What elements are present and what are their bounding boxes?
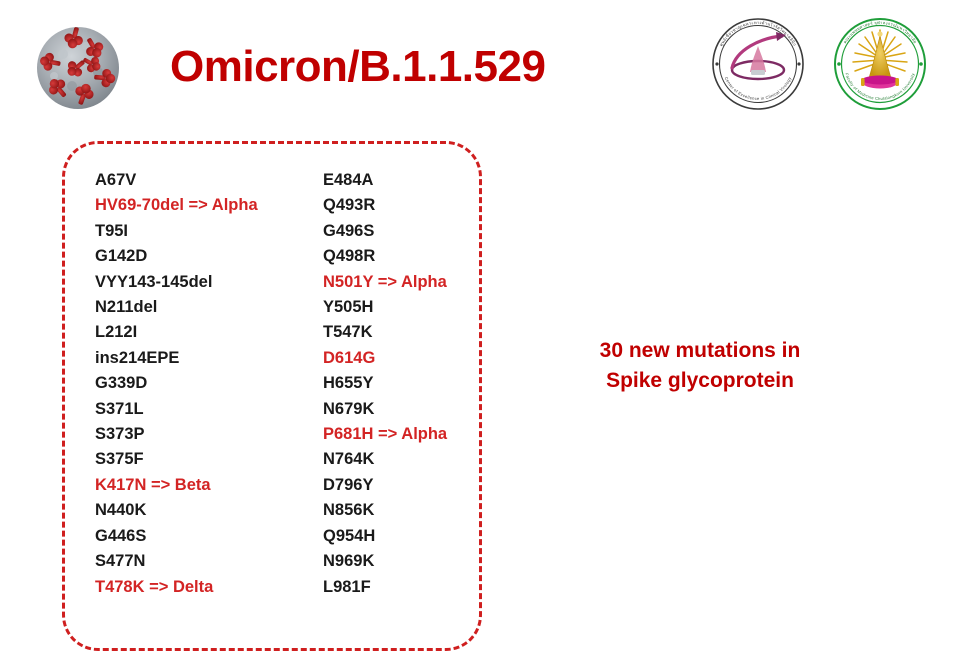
mutation-item: G339D — [95, 371, 258, 396]
mutation-item: Q498R — [323, 244, 447, 269]
mutation-item: G142D — [95, 244, 258, 269]
faculty-of-medicine-chulalongkorn-university-logo: คณะแพทยศาสตร์ จุฬาลงกรณ์มหาวิทยาลัย Facu… — [828, 12, 932, 116]
mutation-item: D796Y — [323, 473, 447, 498]
mutation-item: N501Y => Alpha — [323, 270, 447, 295]
summary-line-2: Spike glycoprotein — [560, 366, 840, 396]
mutation-item: N764K — [323, 447, 447, 472]
mutation-item: N211del — [95, 295, 258, 320]
mutation-item: A67V — [95, 168, 258, 193]
mutation-item: HV69-70del => Alpha — [95, 193, 258, 218]
page-title: Omicron/B.1.1.529 — [170, 42, 545, 92]
mutation-item: S373P — [95, 422, 258, 447]
sars-cov-2-virion-icon — [14, 6, 142, 130]
mutation-item: Y505H — [323, 295, 447, 320]
mutation-item: L212I — [95, 320, 258, 345]
mutation-item: N440K — [95, 498, 258, 523]
mutation-item: Q493R — [323, 193, 447, 218]
mutation-item: N969K — [323, 549, 447, 574]
mutation-item: L981F — [323, 575, 447, 600]
mutation-item: D614G — [323, 346, 447, 371]
mutation-item: N856K — [323, 498, 447, 523]
mutation-item: P681H => Alpha — [323, 422, 447, 447]
mutation-item: G446S — [95, 524, 258, 549]
mutation-item: H655Y — [323, 371, 447, 396]
mutation-item: N679K — [323, 397, 447, 422]
mutation-item: T478K => Delta — [95, 575, 258, 600]
mutation-item: T547K — [323, 320, 447, 345]
mutation-item: S477N — [95, 549, 258, 574]
mutation-column-right: E484AQ493RG496SQ498RN501Y => AlphaY505HT… — [323, 168, 447, 600]
mutation-list-box: A67VHV69-70del => AlphaT95IG142DVYY143-1… — [62, 141, 482, 651]
mutation-item: K417N => Beta — [95, 473, 258, 498]
summary-caption: 30 new mutations in Spike glycoprotein — [560, 336, 840, 396]
center-of-excellence-in-clinical-virology-logo: ศูนย์เชี่ยวชาญเฉพาะทางด้านไวรัสวิทยาคลิน… — [706, 12, 810, 116]
slide-canvas: Omicron/B.1.1.529 ศูนย์เชี่ยวชาญเฉพาะทาง… — [0, 0, 960, 669]
summary-line-1: 30 new mutations in — [560, 336, 840, 366]
mutation-item: VYY143-145del — [95, 270, 258, 295]
mutation-item: ins214EPE — [95, 346, 258, 371]
mutation-item: Q954H — [323, 524, 447, 549]
mutation-item: E484A — [323, 168, 447, 193]
mutation-column-left: A67VHV69-70del => AlphaT95IG142DVYY143-1… — [95, 168, 258, 600]
mutation-item: G496S — [323, 219, 447, 244]
mutation-item: T95I — [95, 219, 258, 244]
mutation-item: S371L — [95, 397, 258, 422]
mutation-item: S375F — [95, 447, 258, 472]
